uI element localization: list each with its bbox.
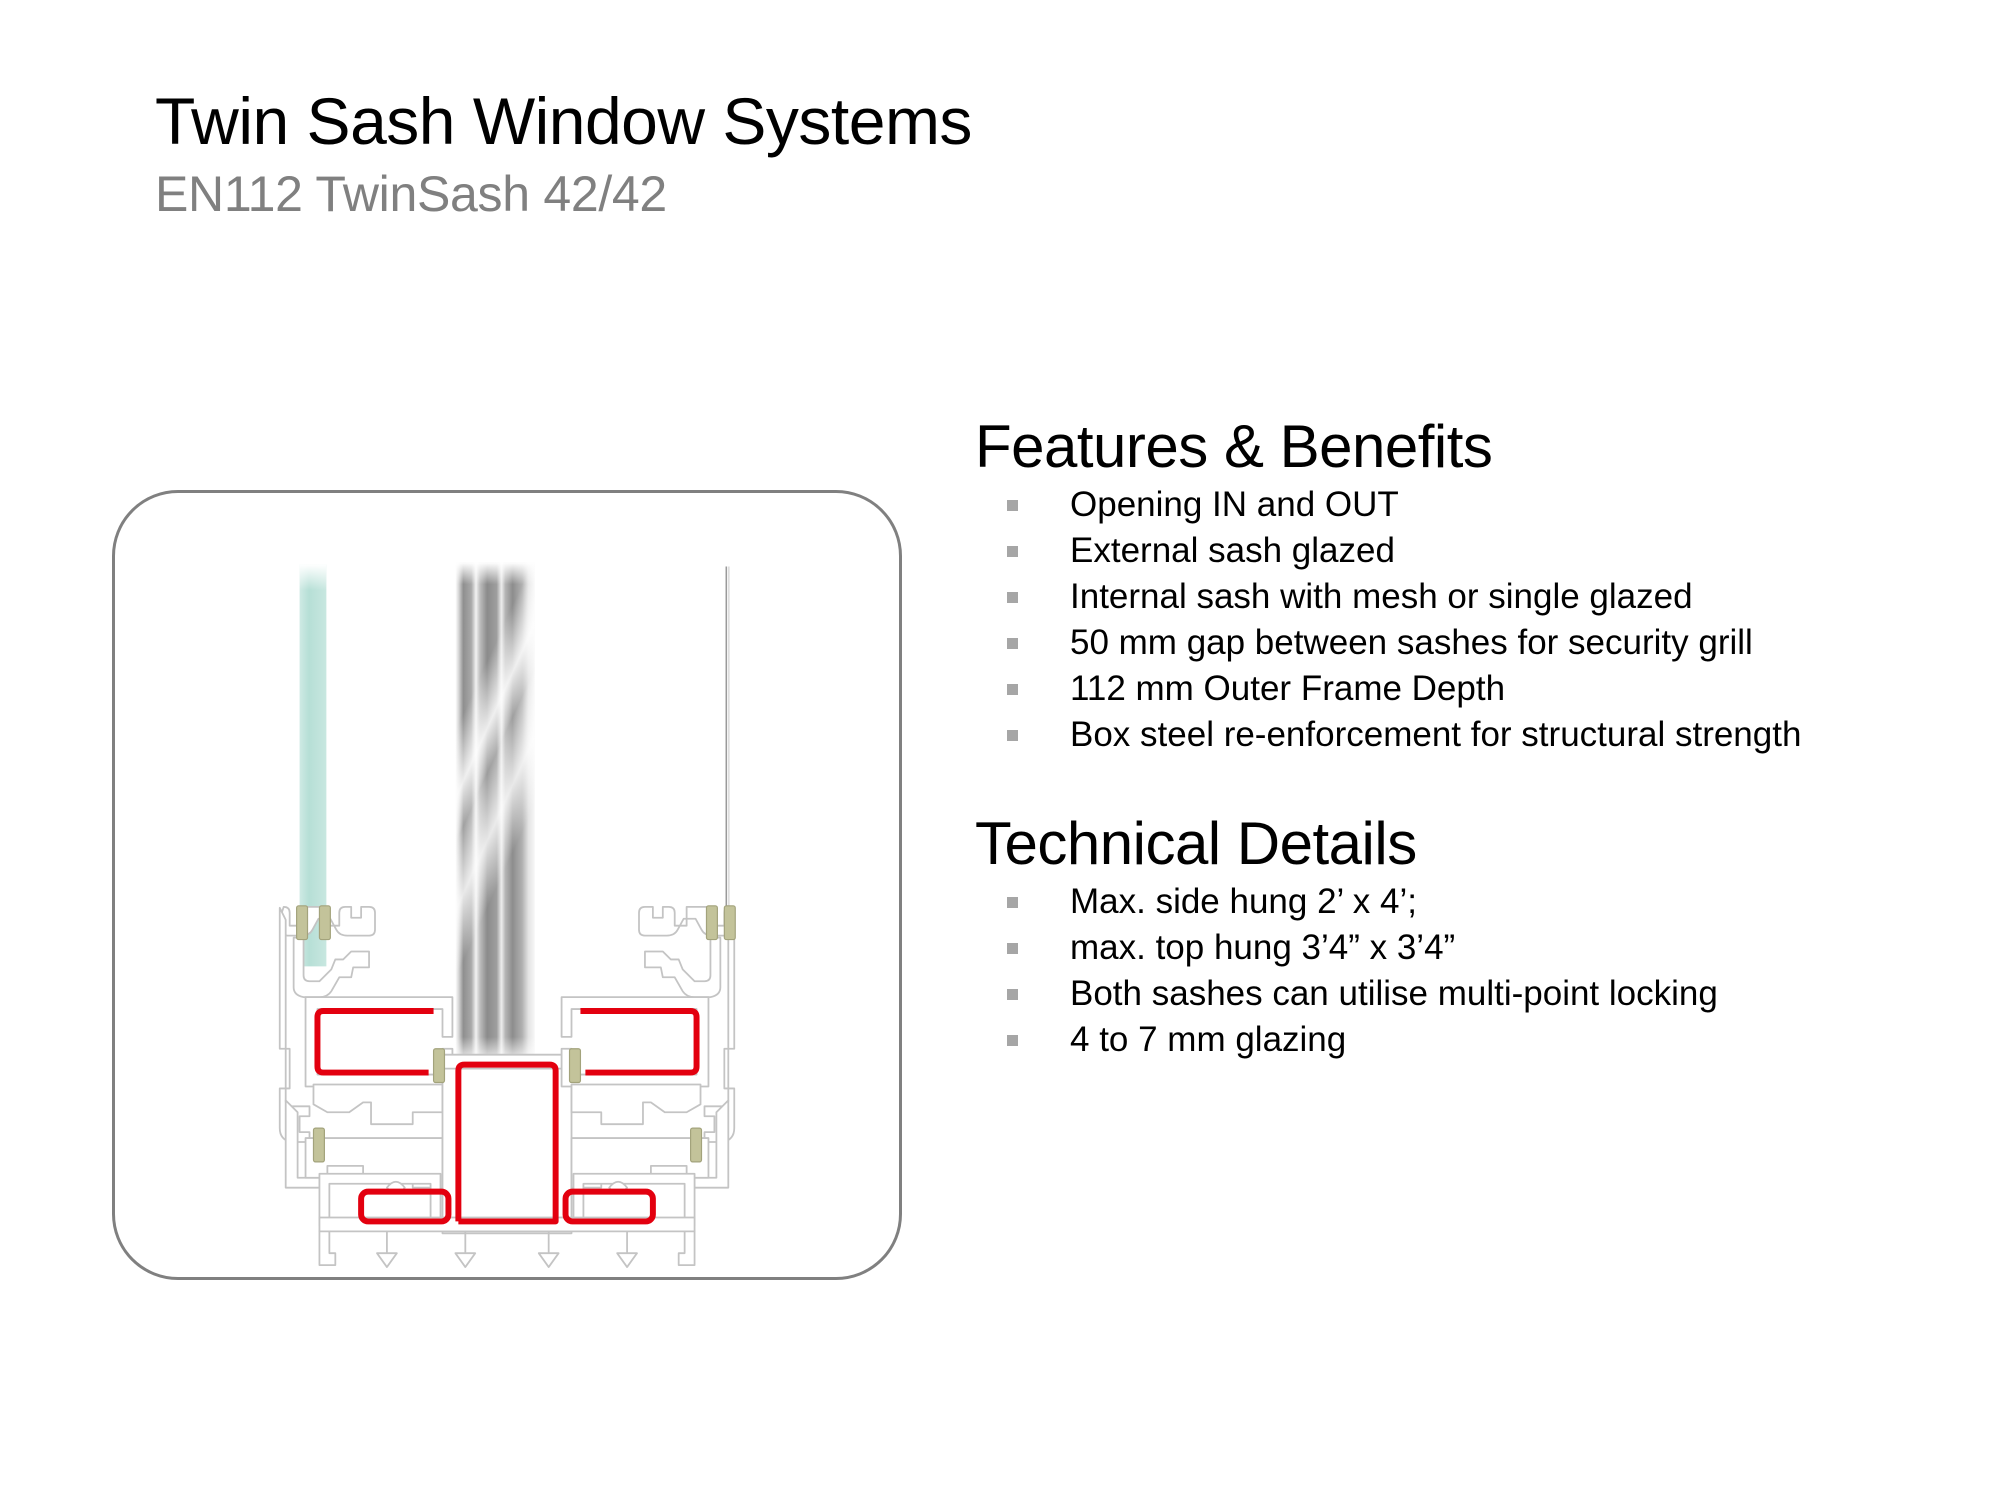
list-item: Opening IN and OUT [975, 484, 1885, 526]
bullet-square-icon [1007, 546, 1018, 557]
internal-sash-head [639, 907, 732, 936]
gasket-mullion-right [570, 1049, 581, 1083]
features-list: Opening IN and OUT External sash glazed … [975, 484, 1885, 756]
bullet-square-icon [1007, 989, 1018, 1000]
list-item-label: 50 mm gap between sashes for security gr… [1070, 623, 1753, 662]
gasket-int-inner [724, 906, 735, 940]
list-item-label: 112 mm Outer Frame Depth [1070, 669, 1505, 708]
bullet-square-icon [1007, 897, 1018, 908]
technical-heading: Technical Details [975, 812, 1885, 875]
list-item-label: Max. side hung 2’ x 4’; [1070, 882, 1417, 921]
list-item: 50 mm gap between sashes for security gr… [975, 622, 1885, 664]
bullet-square-icon [1007, 500, 1018, 511]
list-item: 112 mm Outer Frame Depth [975, 668, 1885, 710]
steel-external-sash [317, 1011, 433, 1073]
list-item-label: Opening IN and OUT [1070, 485, 1399, 524]
sill-fin-4 [617, 1231, 637, 1267]
list-item-label: Box steel re-enforcement for structural … [1070, 715, 1801, 754]
gasket-sill-right [691, 1128, 702, 1162]
page-subtitle: EN112 TwinSash 42/42 [155, 168, 1255, 221]
list-item: Box steel re-enforcement for structural … [975, 714, 1885, 756]
security-grill [455, 562, 534, 1064]
sill-fin-left-end [319, 1231, 335, 1265]
mesh-screen-line [726, 566, 729, 921]
sill-fin-1 [377, 1231, 397, 1267]
outer-frame-left-upper [313, 1084, 442, 1124]
bullet-square-icon [1007, 638, 1018, 649]
outer-frame-right-upper [572, 1084, 701, 1124]
gasket-int-outer [706, 906, 717, 940]
centre-mullion [442, 1057, 571, 1234]
list-item-label: max. top hung 3’4” x 3’4” [1070, 928, 1455, 967]
sill-fin-right-end [679, 1231, 695, 1265]
bullet-square-icon [1007, 730, 1018, 741]
gasket-mullion-left [434, 1049, 445, 1083]
sill-fin-3 [539, 1231, 559, 1267]
list-item: Both sashes can utilise multi-point lock… [975, 973, 1885, 1015]
list-item: Internal sash with mesh or single glazed [975, 576, 1885, 618]
bullet-square-icon [1007, 592, 1018, 603]
list-item-label: External sash glazed [1070, 531, 1395, 570]
list-item: 4 to 7 mm glazing [975, 1019, 1885, 1061]
internal-sash-inner-form [645, 938, 720, 998]
gasket-ext-glass-outer [297, 906, 308, 940]
gasket-ext-glass-inner [319, 906, 330, 940]
window-profile-cross-section [115, 493, 899, 1277]
sill-fin-2 [455, 1231, 475, 1267]
gasket-sill-left [313, 1128, 324, 1162]
title-block: Twin Sash Window Systems EN112 TwinSash … [155, 88, 1255, 221]
bullet-square-icon [1007, 684, 1018, 695]
bullet-square-icon [1007, 943, 1018, 954]
steel-internal-sash [580, 1011, 696, 1073]
diagram-panel [112, 490, 902, 1280]
list-item-label: Both sashes can utilise multi-point lock… [1070, 974, 1718, 1013]
bullet-square-icon [1007, 1035, 1018, 1046]
list-item: External sash glazed [975, 530, 1885, 572]
technical-list: Max. side hung 2’ x 4’; max. top hung 3’… [975, 881, 1885, 1061]
content-column: Features & Benefits Opening IN and OUT E… [975, 415, 1885, 1065]
features-section: Features & Benefits Opening IN and OUT E… [975, 415, 1885, 756]
list-item-label: Internal sash with mesh or single glazed [1070, 577, 1693, 616]
features-heading: Features & Benefits [975, 415, 1885, 478]
technical-section: Technical Details Max. side hung 2’ x 4’… [975, 812, 1885, 1061]
page-title: Twin Sash Window Systems [155, 88, 1255, 154]
list-item: max. top hung 3’4” x 3’4” [975, 927, 1885, 969]
list-item-label: 4 to 7 mm glazing [1070, 1020, 1346, 1059]
list-item: Max. side hung 2’ x 4’; [975, 881, 1885, 923]
